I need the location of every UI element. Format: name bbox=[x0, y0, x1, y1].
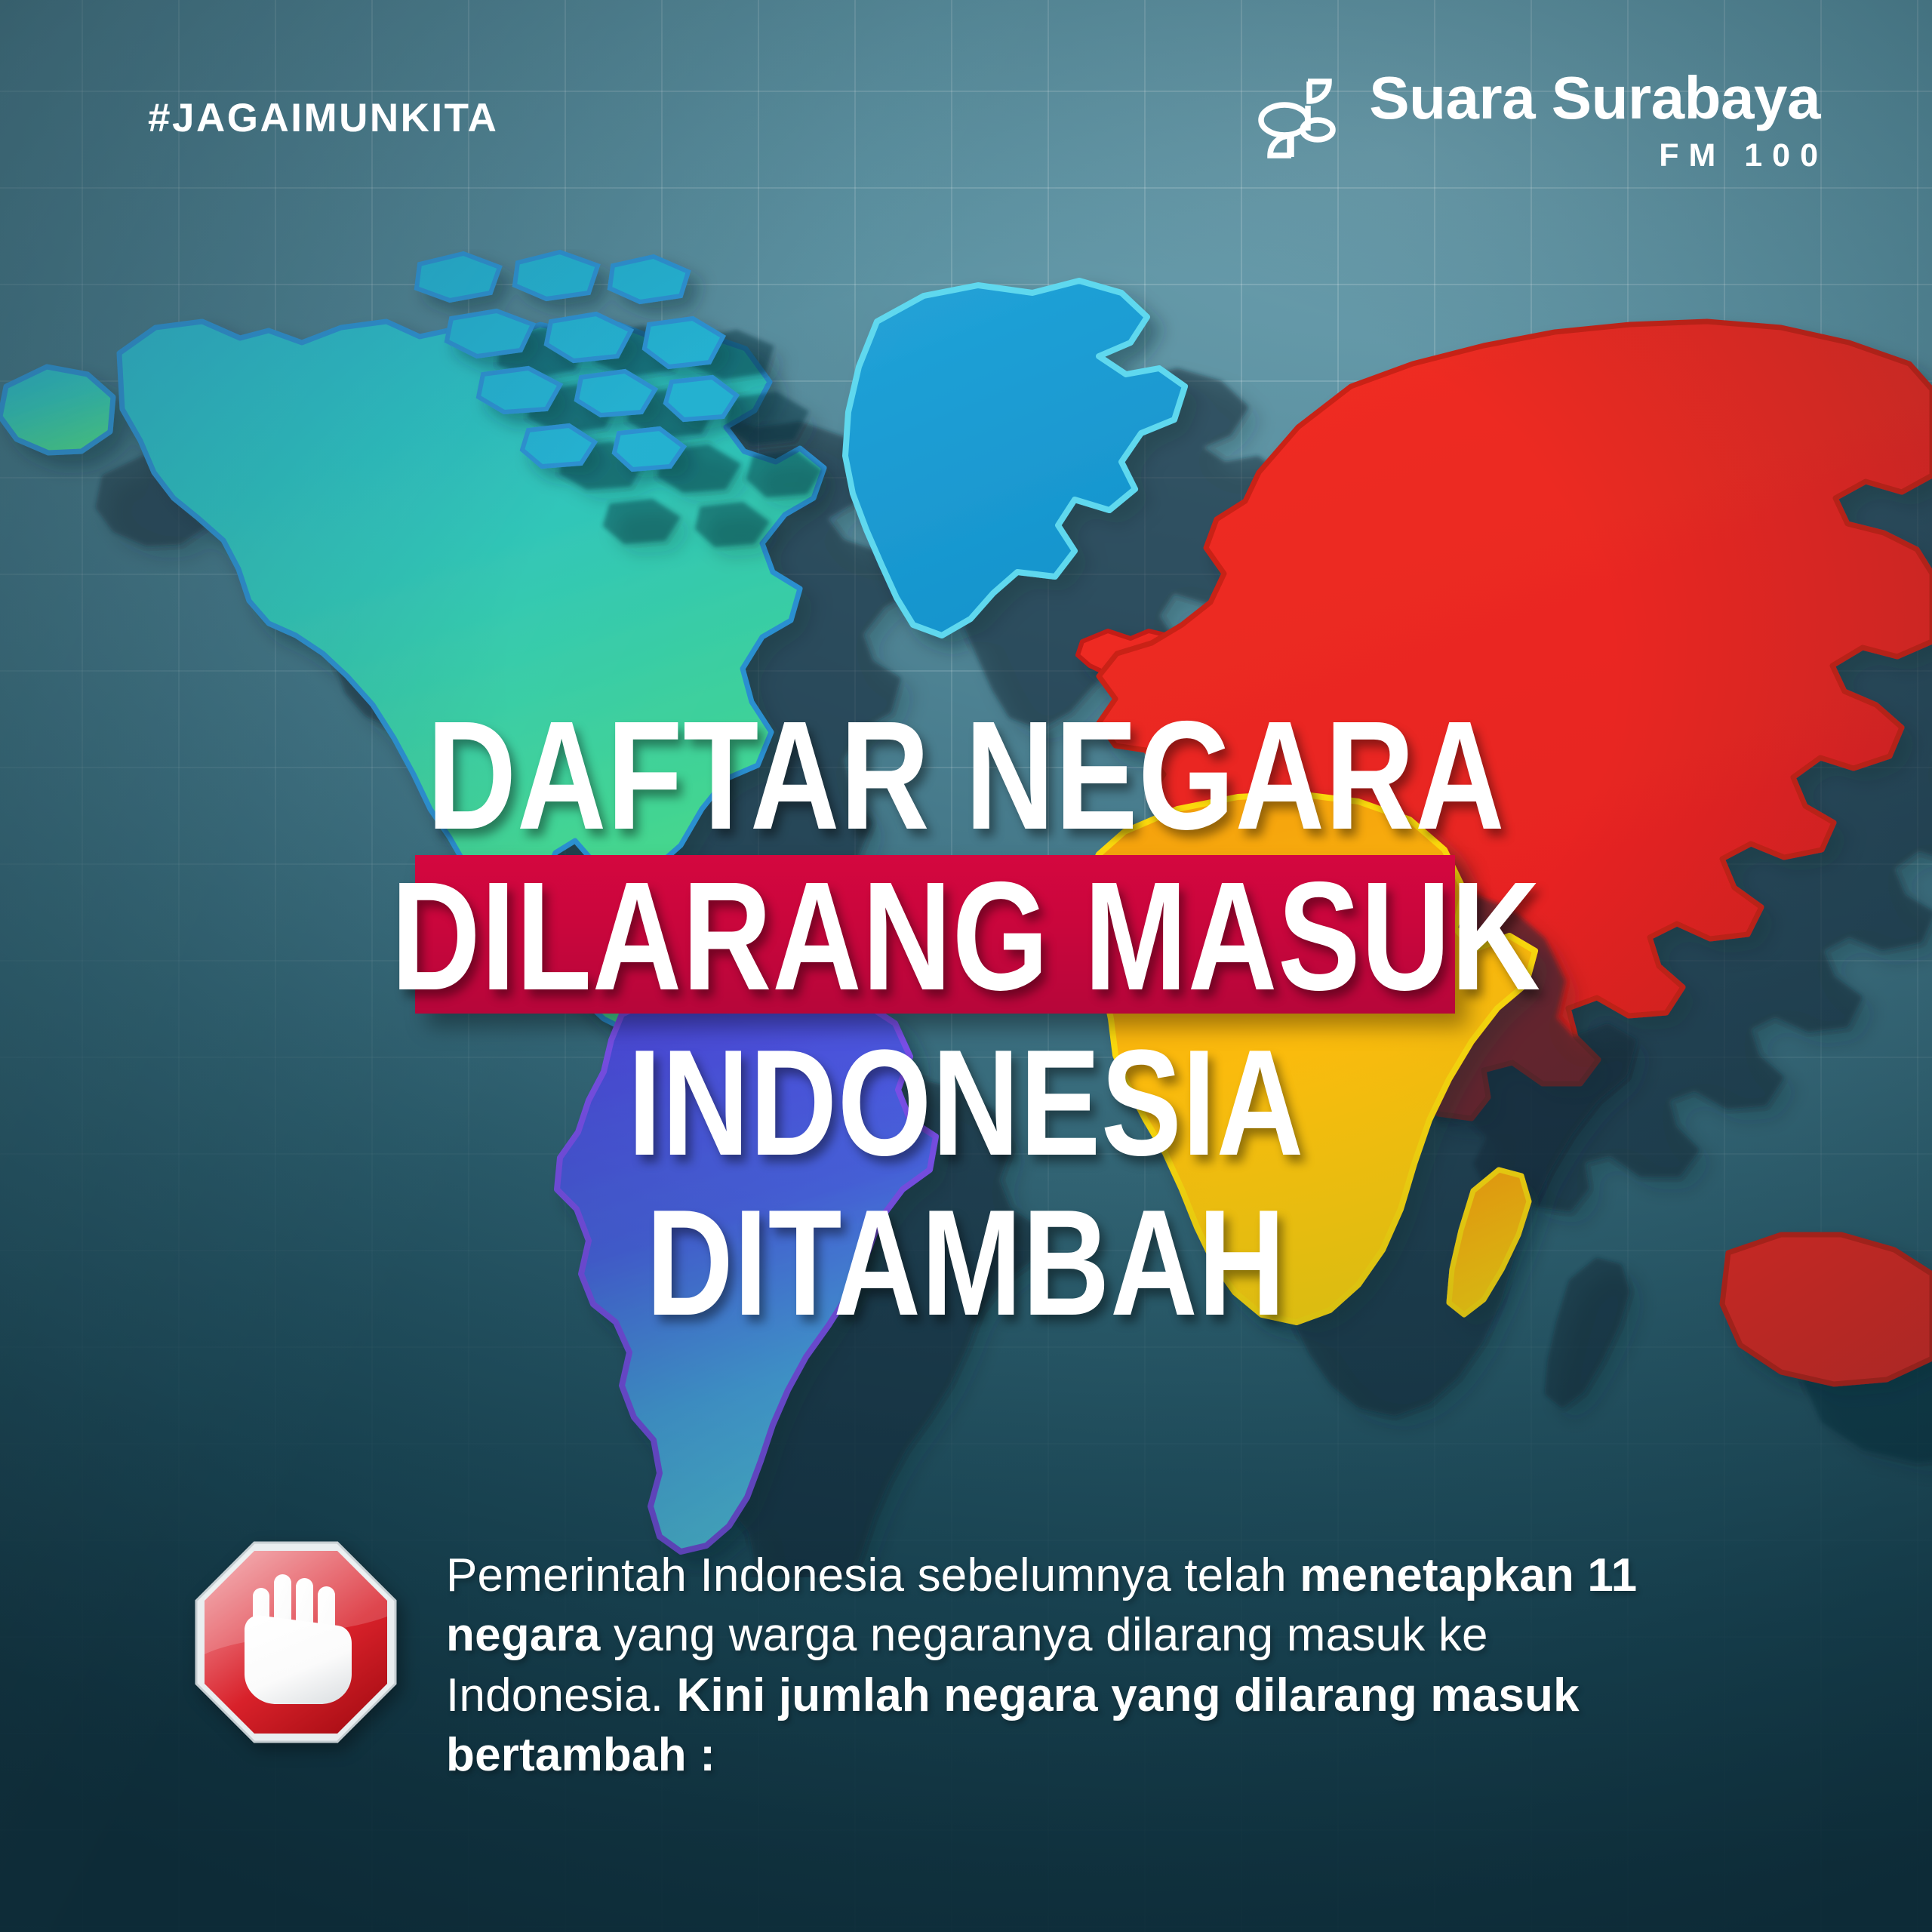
headline-highlight-band-wrap: DILARANG MASUK bbox=[0, 855, 1932, 1011]
infographic-poster: #JAGAIMUNKITA Suara Surabaya FM 100 DAFT… bbox=[0, 0, 1932, 1932]
map-region-eurasia bbox=[1099, 321, 1932, 1118]
map-region-arctic-islands bbox=[417, 252, 737, 469]
headline-block: DAFTAR NEGARA DILARANG MASUK INDONESIA D… bbox=[0, 702, 1932, 1336]
brand-frequency: FM 100 bbox=[1659, 137, 1828, 174]
headline-line-2: DILARANG MASUK bbox=[193, 855, 1739, 1011]
map-region-africa bbox=[1082, 794, 1535, 1322]
world-map-illustration bbox=[0, 249, 1932, 1577]
map-region-south-america bbox=[557, 990, 936, 1552]
body-part-1: Pemerintah Indonesia sebelumnya telah bbox=[446, 1549, 1300, 1601]
double-note-logo-icon bbox=[1257, 74, 1342, 163]
map-region-north-america bbox=[0, 321, 824, 1031]
bottom-info-block: Pemerintah Indonesia sebelumnya telah me… bbox=[0, 1524, 1932, 1785]
headline-line-1: DAFTAR NEGARA bbox=[193, 702, 1739, 851]
campaign-hashtag: #JAGAIMUNKITA bbox=[148, 95, 498, 141]
map-region-iceland bbox=[1078, 631, 1188, 681]
body-paragraph: Pemerintah Indonesia sebelumnya telah me… bbox=[446, 1546, 1699, 1785]
map-region-greenland bbox=[845, 281, 1185, 635]
brand-logo: Suara Surabaya FM 100 bbox=[1257, 69, 1820, 174]
headline-line-3: INDONESIA bbox=[193, 1031, 1739, 1176]
headline-highlight-band bbox=[415, 855, 1455, 1014]
brand-name: Suara Surabaya bbox=[1369, 69, 1820, 127]
stop-hand-octagon-icon bbox=[195, 1541, 397, 1743]
headline-line-4: DITAMBAH bbox=[193, 1191, 1739, 1336]
map-region-australia bbox=[1722, 1235, 1932, 1384]
